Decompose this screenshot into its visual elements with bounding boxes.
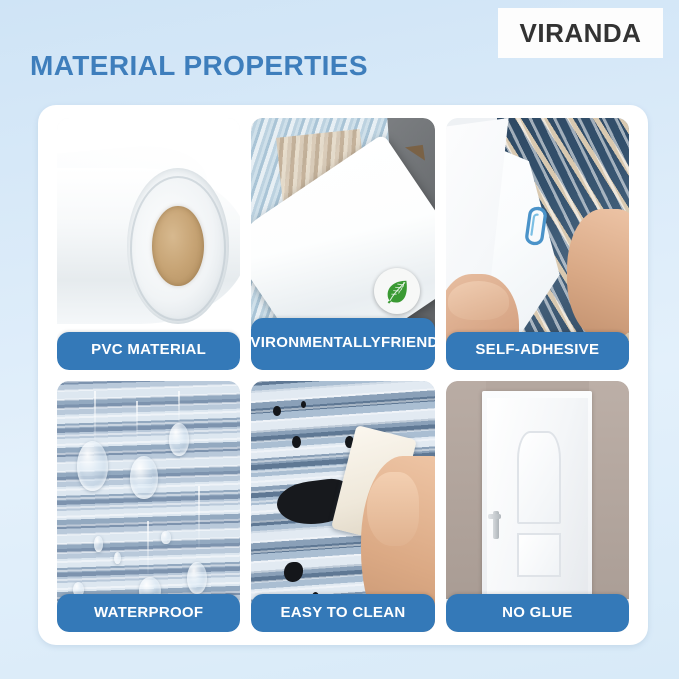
eco-leaf-badge: [374, 268, 420, 314]
label-line-2: FRIENDLY: [381, 335, 435, 351]
feature-label-easy-to-clean: EASY TO CLEAN: [251, 594, 434, 632]
feature-tile-waterproof: WATERPROOF: [57, 381, 240, 633]
feature-label-no-glue: NO GLUE: [446, 594, 629, 632]
feature-tile-self-adhesive: SELF-ADHESIVE: [446, 118, 629, 370]
page-title: MATERIAL PROPERTIES: [30, 50, 368, 82]
feature-tile-environmentally-friendly: ENVIRONMENTALLY FRIENDLY: [251, 118, 434, 370]
feature-label-self-adhesive: SELF-ADHESIVE: [446, 332, 629, 370]
feature-tile-easy-to-clean: EASY TO CLEAN: [251, 381, 434, 633]
feature-grid: PVC MATERIAL: [57, 118, 629, 632]
brand-logo: VIRANDA: [498, 8, 663, 58]
label-line-1: ENVIRONMENTALLY: [251, 335, 381, 351]
leaf-icon: [382, 276, 412, 306]
feature-label-environmentally-friendly: ENVIRONMENTALLY FRIENDLY: [251, 318, 434, 370]
feature-label-pvc-material: PVC MATERIAL: [57, 332, 240, 370]
paperclip-icon: [518, 202, 554, 250]
brand-name: VIRANDA: [520, 18, 642, 49]
feature-tile-no-glue: NO GLUE: [446, 381, 629, 633]
feature-tile-pvc-material: PVC MATERIAL: [57, 118, 240, 370]
infographic-page: VIRANDA MATERIAL PROPERTIES PVC MATERIAL: [0, 0, 679, 679]
feature-card: PVC MATERIAL: [38, 105, 648, 645]
feature-label-waterproof: WATERPROOF: [57, 594, 240, 632]
